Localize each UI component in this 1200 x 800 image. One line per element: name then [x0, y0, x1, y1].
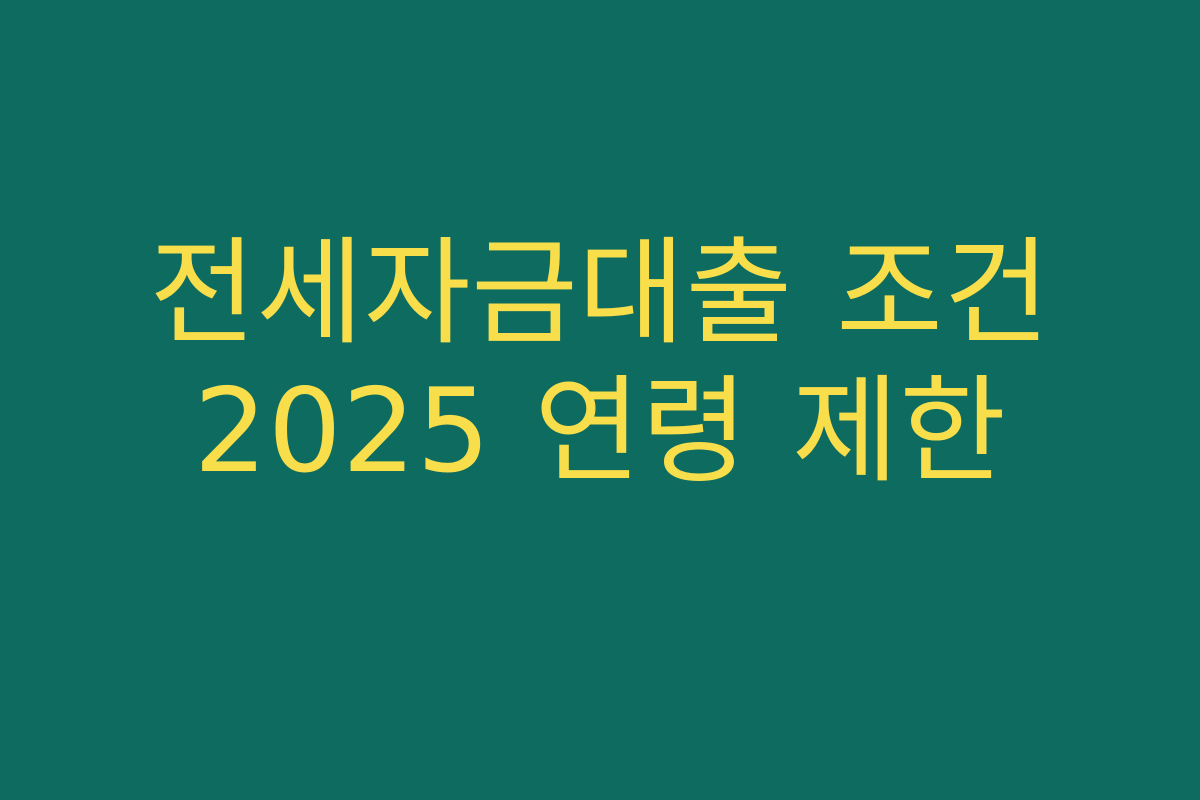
headline-block: 전세자금대출 조건 2025 연령 제한: [95, 225, 1105, 501]
headline-text: 전세자금대출 조건 2025 연령 제한: [95, 225, 1105, 501]
title-card: 전세자금대출 조건 2025 연령 제한: [0, 0, 1200, 800]
